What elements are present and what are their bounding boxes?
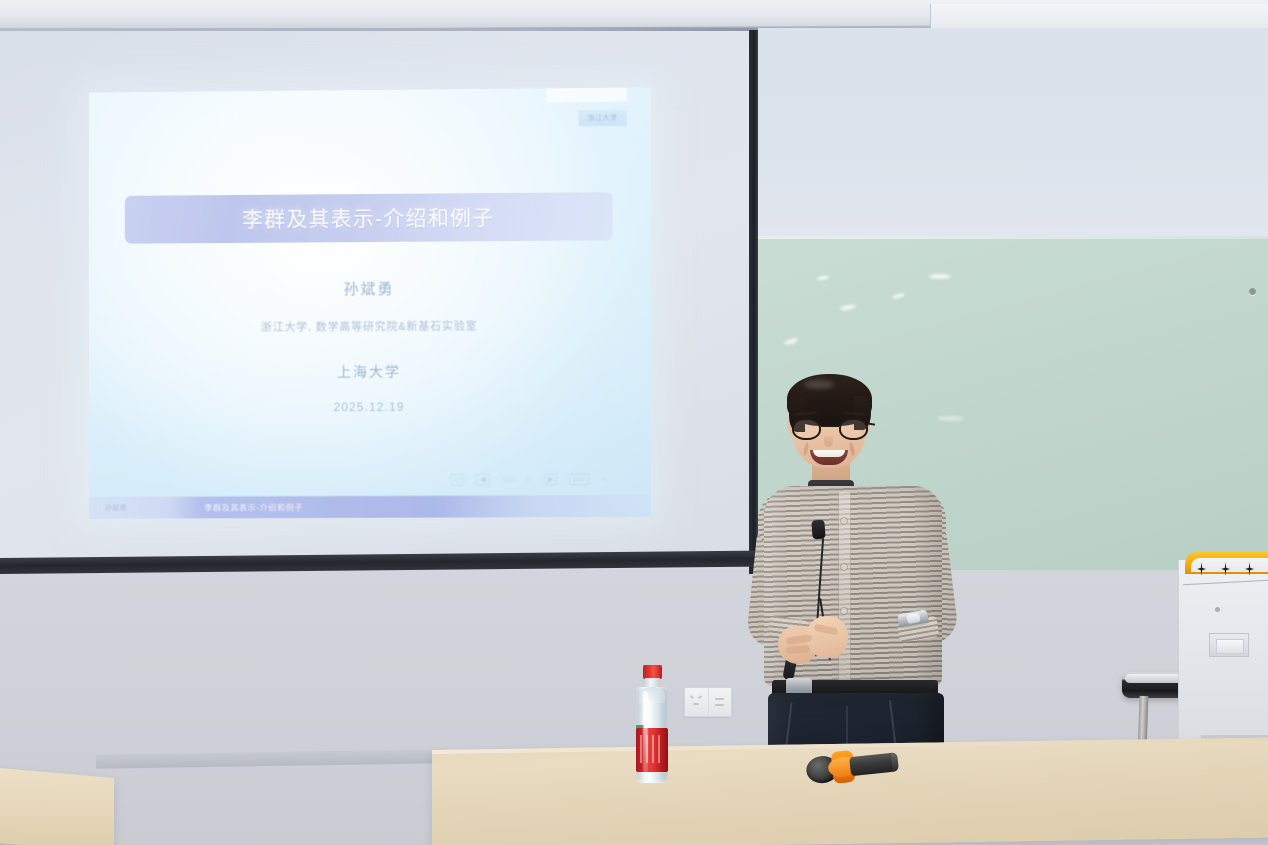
- lapel-microphone: [811, 520, 825, 540]
- socket-left[interactable]: [685, 688, 709, 716]
- slide-title: 李群及其表示-介绍和例子: [242, 202, 494, 234]
- cabinet-star-decals: [1197, 562, 1268, 576]
- glasses-bridge: [821, 425, 839, 427]
- projection-screen-surface: 浙江大学 李群及其表示-介绍和例子 孙斌勇 浙江大学, 数学高等研究院&新基石实…: [0, 28, 758, 558]
- socket-pin: [690, 695, 694, 699]
- glasses-lens: [792, 418, 821, 440]
- whiteboard-glint: [892, 292, 906, 299]
- cabinet-recessed-panel[interactable]: [1209, 633, 1249, 657]
- slide-footer-bar: 孙斌勇 李群及其表示-介绍和例子: [89, 495, 651, 519]
- presenter: [742, 368, 972, 788]
- slide-date: 2025.12.19: [89, 399, 651, 416]
- microphone-body: [849, 752, 899, 776]
- side-table[interactable]: [0, 766, 114, 845]
- whiteboard-glint: [784, 337, 799, 346]
- ceiling-seam: [930, 4, 1268, 30]
- nav-home-icon[interactable]: ⌂: [602, 475, 607, 484]
- whiteboard-screw: [1249, 288, 1256, 295]
- screen-top-edge: [0, 28, 758, 31]
- footer-title: 李群及其表示-介绍和例子: [204, 502, 303, 513]
- presenter-right-hand: [806, 616, 848, 658]
- glasses-lens: [839, 418, 868, 440]
- slide-title-banner: 李群及其表示-介绍和例子: [125, 192, 613, 244]
- bottle-label: [636, 728, 668, 772]
- shirt-button: [841, 608, 847, 614]
- cabinet-knob[interactable]: [1215, 607, 1220, 612]
- presenter-nose: [824, 436, 833, 447]
- socket-pin: [693, 703, 699, 705]
- nav-first-icon[interactable]: ◁: [450, 474, 464, 486]
- water-bottle[interactable]: [634, 665, 670, 783]
- slide-logo: 浙江大学: [579, 110, 627, 126]
- socket-right[interactable]: [709, 688, 732, 716]
- star-icon: [1221, 562, 1230, 576]
- shirt-button: [841, 564, 847, 570]
- slide-logo-notch: [546, 88, 626, 103]
- nav-prev-icon[interactable]: ◀: [476, 474, 490, 486]
- presenter-teeth: [813, 450, 845, 457]
- whiteboard-glint: [840, 304, 857, 312]
- nav-next-icon[interactable]: ▶: [544, 473, 558, 485]
- presenter-hair-highlight: [804, 380, 834, 389]
- slide-venue: 上海大学: [89, 360, 651, 383]
- star-icon: [1245, 562, 1254, 576]
- cabinet-edge-line: [1183, 580, 1268, 586]
- star-icon: [1197, 562, 1206, 576]
- projector-glow: [89, 88, 651, 519]
- slide-author: 孙斌勇: [89, 276, 651, 301]
- nav-back-icon[interactable]: ◁◁: [502, 474, 514, 484]
- whiteboard-glint: [929, 274, 951, 279]
- socket-pin: [715, 704, 724, 706]
- shirt-button: [841, 518, 847, 524]
- nav-forward-icon[interactable]: ▷: [526, 474, 532, 484]
- wall-power-socket[interactable]: [684, 687, 732, 717]
- bottle-highlight: [643, 691, 648, 773]
- wall-above-whiteboard: [757, 28, 1268, 238]
- lecture-hall-scene: 浙江大学 李群及其表示-介绍和例子 孙斌勇 浙江大学, 数学高等研究院&新基石实…: [0, 0, 1268, 845]
- whiteboard-glint: [817, 275, 829, 281]
- slide-navigation-bar[interactable]: ◁ ◀ ◁◁ ▷ ▶ ▷▷ ⌂: [450, 473, 606, 486]
- nav-last-icon[interactable]: ▷▷: [570, 473, 590, 485]
- socket-pin: [715, 698, 724, 700]
- slide-affiliation: 浙江大学, 数学高等研究院&新基石实验室: [89, 316, 651, 335]
- projection-screen: 浙江大学 李群及其表示-介绍和例子 孙斌勇 浙江大学, 数学高等研究院&新基石实…: [0, 28, 758, 574]
- projected-slide: 浙江大学 李群及其表示-介绍和例子 孙斌勇 浙江大学, 数学高等研究院&新基石实…: [89, 88, 651, 519]
- socket-pin: [698, 695, 702, 699]
- footer-author: 孙斌勇: [105, 503, 127, 513]
- bottle-cap: [643, 665, 662, 679]
